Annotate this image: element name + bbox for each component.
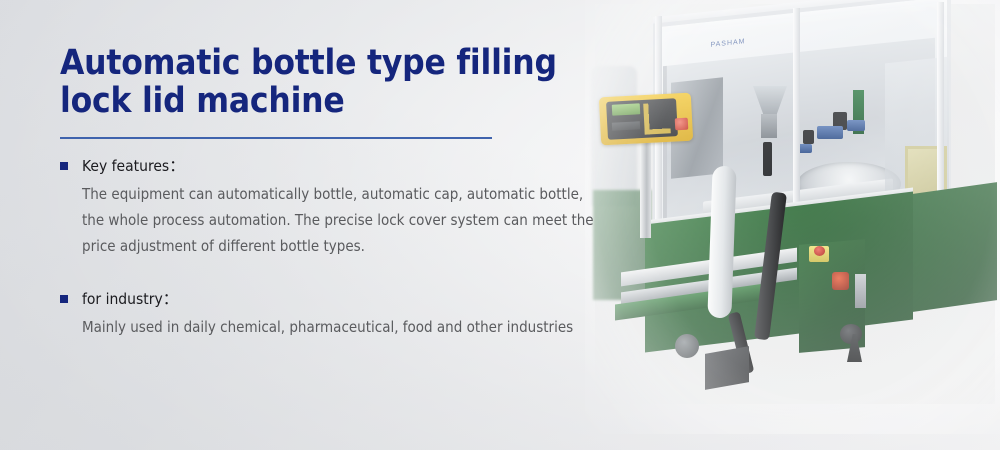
panel-stop-button-icon [675,118,689,131]
feature-heading: Key features： [82,156,185,176]
vertical-cylinder [763,142,772,176]
leveling-foot [855,274,866,308]
square-bullet-icon [60,162,68,170]
feature-block-for-industry: for industry： Mainly used in daily chemi… [60,289,600,340]
product-photo: PASHAM [585,0,1000,434]
feature-heading-row: Key features： [60,156,600,176]
hopper-nozzle [761,114,777,138]
red-valve-icon [832,272,849,290]
lcd-secondary-display [612,121,640,130]
roller-wheel [675,334,699,358]
feature-heading-row: for industry： [60,289,600,309]
blue-actuator [817,126,843,139]
control-panel-post [640,142,651,238]
title-divider [60,137,492,139]
enclosure-post [793,8,800,233]
adjustment-knob-icon [840,324,862,344]
square-bullet-icon [60,295,68,303]
keypad-icon [643,102,671,134]
text-column: Automatic bottle type filling lock lid m… [60,44,600,340]
pneumatic-block [803,130,814,144]
lcd-display [612,103,641,115]
feature-body: Mainly used in daily chemical, pharmaceu… [82,314,594,340]
page-title: Automatic bottle type filling lock lid m… [60,44,600,120]
emergency-stop-button-icon [814,246,825,256]
feature-block-key-features: Key features： The equipment can automati… [60,156,600,259]
feature-body: The equipment can automatically bottle, … [82,181,594,259]
blue-actuator [847,120,865,131]
product-banner: PASHAM Automatic bottle type filling loc… [0,0,1000,450]
enclosure-post [937,2,944,202]
feature-heading: for industry： [82,289,178,309]
